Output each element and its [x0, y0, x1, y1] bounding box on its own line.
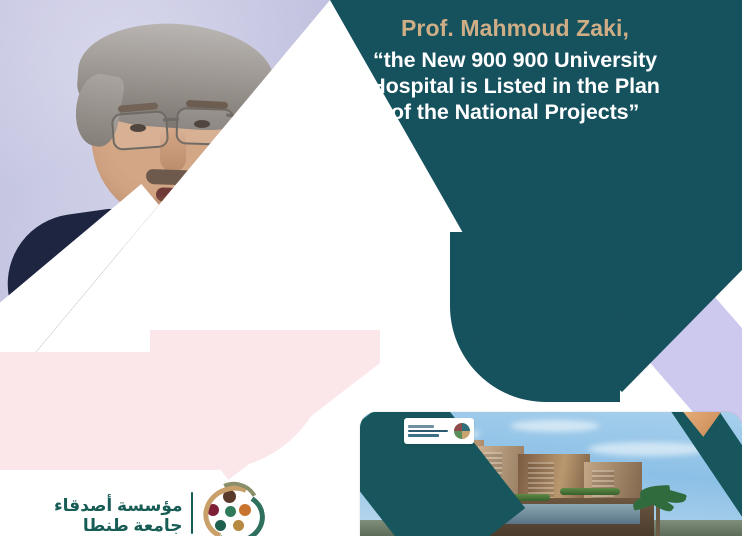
logo-line-2: جامعة طنطا [46, 516, 183, 536]
shirt-collar-right [180, 216, 242, 298]
quote-line-1: “the New 900 900 University [300, 47, 730, 73]
nose [160, 130, 186, 172]
headline-quote: “the New 900 900 University Hospital is … [300, 47, 730, 126]
speaker-name: Prof. Mahmoud Zaki, [300, 14, 730, 42]
badge-line [408, 430, 448, 433]
badge-text-lines [408, 425, 451, 437]
right-margin-strip [742, 0, 750, 536]
tie-knot [151, 237, 184, 263]
planted-ledge [560, 488, 620, 495]
logo-divider [191, 492, 194, 534]
badge-line [408, 434, 439, 437]
badge-line [408, 425, 434, 428]
logo-text: مؤسسة أصدقاء جامعة طنطا [46, 496, 183, 536]
hospital-render-card [360, 412, 742, 536]
cloud [510, 420, 600, 432]
microphone-windscreen-tip [266, 205, 284, 228]
logo-emblem-icon [201, 480, 261, 536]
badge-emblem-icon [454, 423, 470, 439]
poster-canvas: Prof. Mahmoud Zaki, “the New 900 900 Uni… [0, 0, 750, 536]
mustache [146, 169, 208, 186]
project-logo-badge [404, 418, 474, 444]
quote-line-3: of the National Projects” [300, 99, 730, 125]
logo-line-1: مؤسسة أصدقاء [46, 496, 183, 516]
card-ribbon-graphic [632, 412, 742, 528]
organization-logo: مؤسسة أصدقاء جامعة طنطا [46, 480, 261, 536]
headline-block: Prof. Mahmoud Zaki, “the New 900 900 Uni… [300, 14, 730, 126]
microphone-icon [238, 192, 280, 234]
quote-line-2: Hospital is Listed in the Plan [300, 73, 730, 99]
lapel-pin-icon [248, 262, 260, 278]
